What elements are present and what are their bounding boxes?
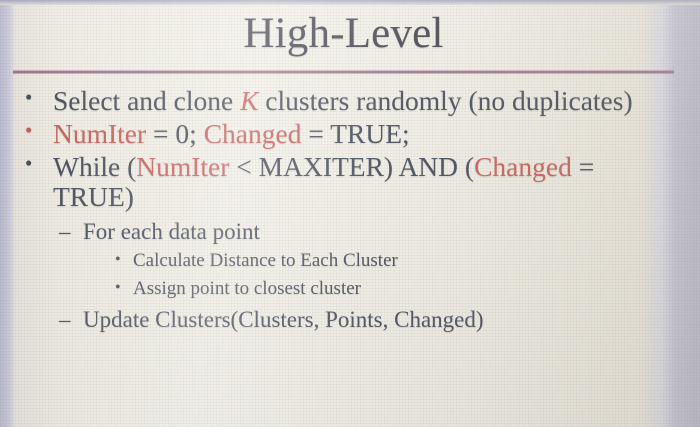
slide-content-area: High-Level •Select and clone K clusters … xyxy=(13,4,674,427)
bullet-item-level1: •Select and clone K clusters randomly (n… xyxy=(13,86,674,117)
bullet-item-level1: •While (NumIter < MAXITER) AND (Changed … xyxy=(13,152,674,214)
dash-marker-icon: – xyxy=(59,306,83,333)
text-run: While ( xyxy=(53,151,136,182)
presentation-slide-photo: High-Level •Select and clone K clusters … xyxy=(0,0,700,427)
text-run: Select and clone xyxy=(53,85,240,116)
text-run: Assign point to closest cluster xyxy=(133,278,361,299)
bullet-item-level2: –Update Clusters(Clusters, Points, Chang… xyxy=(13,306,674,333)
bullet-item-level3: •Assign point to closest cluster xyxy=(13,278,674,301)
text-run: = TRUE; xyxy=(301,118,409,149)
bullet-marker-icon: • xyxy=(13,86,53,110)
bullet-text: Select and clone K clusters randomly (no… xyxy=(53,86,674,117)
bullet-marker-icon: • xyxy=(13,152,53,176)
bullet-item-level1: •NumIter = 0; Changed = TRUE; xyxy=(13,119,674,150)
page-title: High-Level xyxy=(13,4,674,55)
text-run: Update Clusters(Clusters, Points, Change… xyxy=(83,307,484,332)
bullet-marker-icon: • xyxy=(115,250,133,269)
text-run: K xyxy=(240,85,258,116)
text-run: < MAXITER) AND ( xyxy=(229,151,474,182)
bullet-item-level2: –For each data point xyxy=(13,218,674,245)
text-run: For each data point xyxy=(83,219,260,244)
dash-marker-icon: – xyxy=(59,218,83,245)
text-run: NumIter xyxy=(53,118,146,149)
bullet-item-level3: •Calculate Distance to Each Cluster xyxy=(13,250,674,273)
bullet-text: Update Clusters(Clusters, Points, Change… xyxy=(83,306,674,333)
text-run: Calculate Distance to Each Cluster xyxy=(133,250,398,271)
bullet-text: For each data point xyxy=(83,218,674,245)
bullet-marker-icon: • xyxy=(13,119,53,143)
bullet-marker-icon: • xyxy=(115,278,133,297)
bullet-text: While (NumIter < MAXITER) AND (Changed =… xyxy=(53,152,674,214)
bullet-text: Calculate Distance to Each Cluster xyxy=(133,250,674,273)
text-run: Changed xyxy=(204,118,302,149)
text-run: Changed xyxy=(474,151,572,182)
text-run: clusters randomly (no duplicates) xyxy=(258,85,632,116)
bullet-list: •Select and clone K clusters randomly (n… xyxy=(13,74,674,333)
bullet-text: Assign point to closest cluster xyxy=(133,278,674,301)
text-run: = 0; xyxy=(146,118,204,149)
text-run: NumIter xyxy=(136,151,229,182)
bullet-text: NumIter = 0; Changed = TRUE; xyxy=(53,119,674,150)
